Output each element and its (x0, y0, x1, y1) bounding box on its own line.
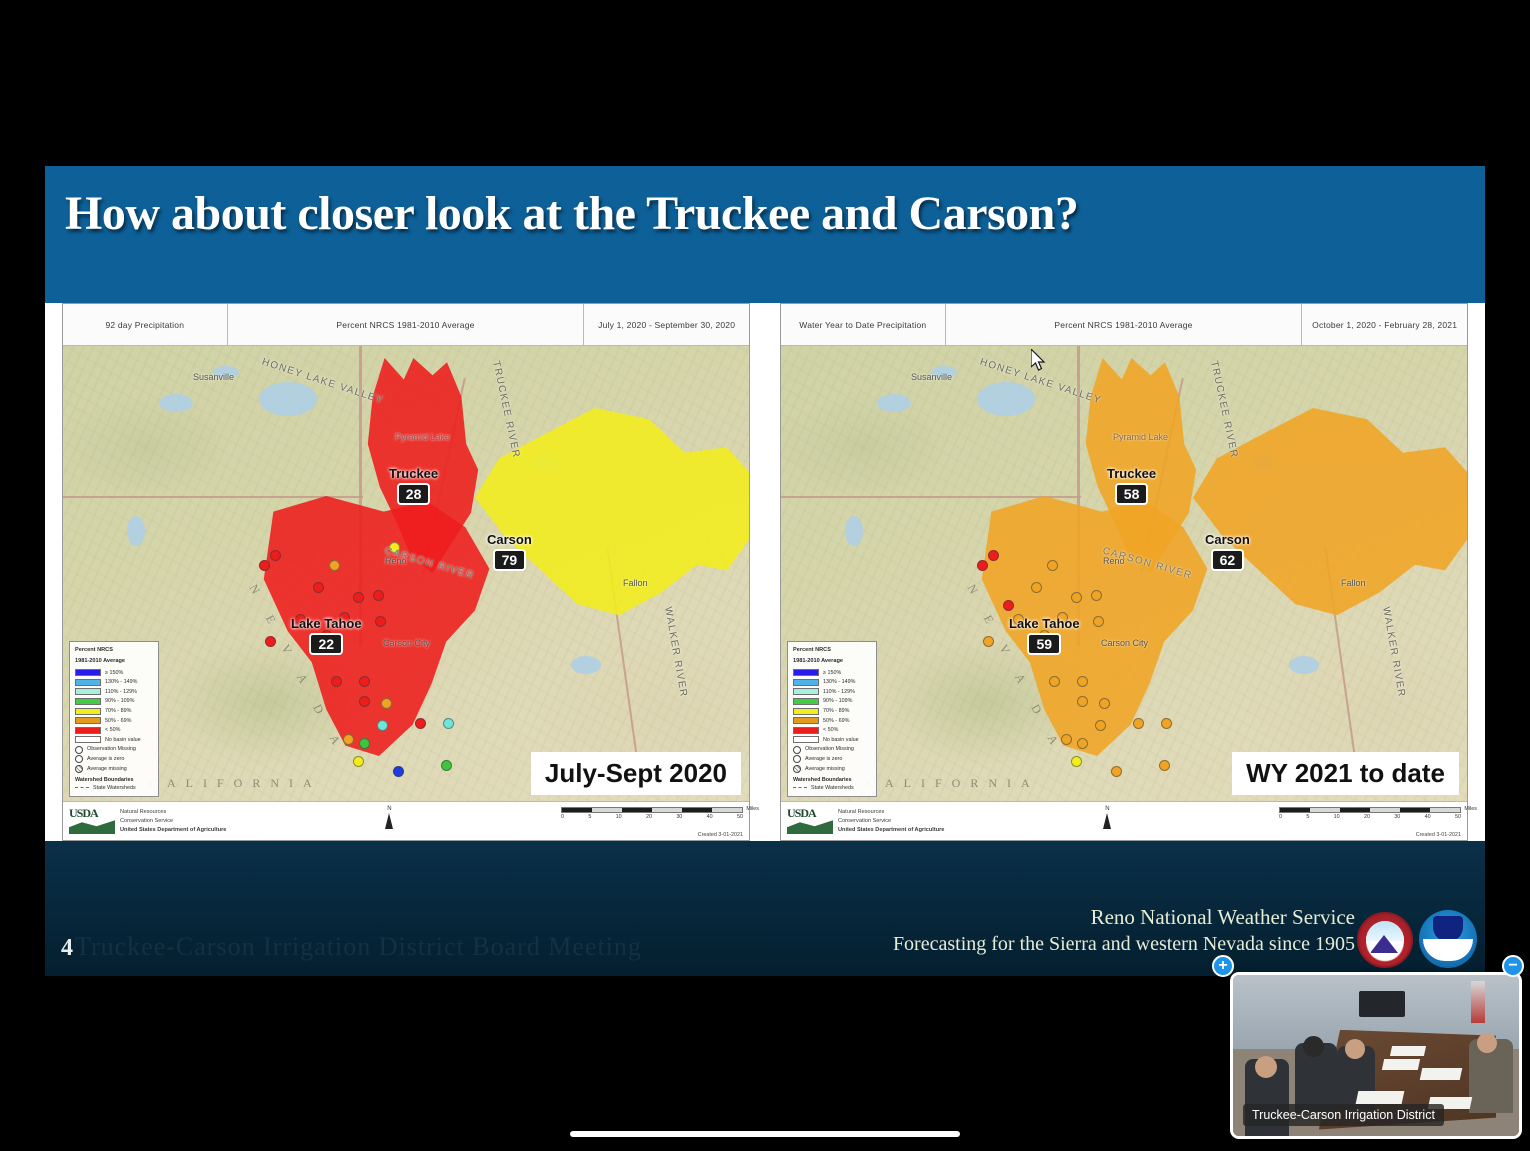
legend-class-label: ≥ 150% (823, 669, 841, 677)
scale-seg (1310, 808, 1340, 812)
basin-name: Lake Tahoe (1009, 616, 1080, 631)
observation-point (313, 582, 324, 593)
legend-color-swatch (793, 669, 819, 676)
nws-mountain-shape (1370, 935, 1398, 953)
north-arrow-glyph (1103, 813, 1111, 829)
scale-tick: 30 (1394, 814, 1400, 820)
north-label: N (385, 806, 393, 812)
scale-tick: 5 (1306, 814, 1309, 820)
north-arrow-icon: N (385, 806, 393, 829)
basin-label-carson: Carson 62 (1205, 532, 1250, 571)
footer-branding: Reno National Weather Service Forecastin… (893, 903, 1355, 958)
observation-point (1111, 766, 1122, 777)
legend-boundaries-item: State Watersheds (93, 784, 136, 792)
basin-name: Carson (1205, 532, 1250, 547)
legend-title-1: Percent NRCS (793, 646, 871, 654)
legend-color-swatch (793, 698, 819, 705)
lake-shape (259, 382, 317, 416)
video-thumbnail[interactable]: Truckee-Carson Irrigation District (1230, 972, 1522, 1139)
scene-paper (1356, 1091, 1405, 1104)
agency-line-3: United States Department of Agriculture (838, 826, 944, 835)
observation-point (1071, 592, 1082, 603)
legend-class-label: ≥ 150% (105, 669, 123, 677)
presentation-slide[interactable]: How about closer look at the Truckee and… (45, 166, 1485, 976)
legend-color-swatch (75, 727, 101, 734)
map-card-right[interactable]: Water Year to Date Precipitation Percent… (780, 303, 1468, 841)
observation-point (1003, 600, 1014, 611)
legend-class-row: No basin value (75, 736, 153, 744)
scale-seg (1430, 808, 1460, 812)
legend-class-list: ≥ 150%130% - 149%110% - 129%90% - 109%70… (75, 669, 153, 744)
legend-class-label: No basin value (105, 736, 141, 744)
legend-symbol-label: Average missing (87, 765, 127, 773)
mouse-cursor-icon (1031, 349, 1047, 373)
observation-point (1077, 696, 1088, 707)
scene-person-head (1255, 1056, 1277, 1078)
slide-body: 92 day Precipitation Percent NRCS 1981-2… (45, 303, 1485, 841)
agency-line-1: Natural Resources (838, 808, 944, 817)
legend-class-row: 130% - 149% (75, 678, 153, 686)
basin-value: 28 (397, 483, 431, 505)
map-header-period: July 1, 2020 - September 30, 2020 (584, 304, 749, 345)
zoom-out-button[interactable]: − (1502, 955, 1524, 977)
observation-point (1161, 718, 1172, 729)
scale-tick: 40 (1425, 814, 1431, 820)
observation-point (377, 720, 388, 731)
legend-color-swatch (793, 727, 819, 734)
legend-color-swatch (75, 708, 101, 715)
legend-title-1: Percent NRCS (75, 646, 153, 654)
scale-tick: 0 (1279, 814, 1282, 820)
observation-point (329, 560, 340, 571)
map-header-product: Water Year to Date Precipitation (781, 304, 946, 345)
scene-paper (1382, 1059, 1420, 1070)
map-header-measure: Percent NRCS 1981-2010 Average (946, 304, 1303, 345)
observation-point (441, 760, 452, 771)
scale-tick-labels: 051020304050 (1279, 814, 1461, 820)
map-legend-left: Percent NRCS 1981-2010 Average ≥ 150%130… (69, 641, 159, 797)
scale-seg (1370, 808, 1400, 812)
legend-class-label: No basin value (823, 736, 859, 744)
observation-point (415, 718, 426, 729)
legend-color-swatch (75, 669, 101, 676)
legend-class-label: 110% - 129% (823, 688, 855, 696)
scale-seg (712, 808, 742, 812)
basin-name: Lake Tahoe (291, 616, 362, 631)
place-label: Pyramid Lake (395, 432, 450, 442)
basin-label-truckee: Truckee 58 (1107, 466, 1156, 505)
scale-tick: 0 (561, 814, 564, 820)
agency-line-3: United States Department of Agriculture (120, 826, 226, 835)
lake-shape (1289, 656, 1319, 674)
legend-class-row: No basin value (793, 736, 871, 744)
basin-value: 58 (1115, 483, 1149, 505)
agency-line-2: Conservation Service (120, 817, 226, 826)
observation-point (1031, 582, 1042, 593)
map-canvas-right[interactable]: Susanville Reno Carson City Fallon Pyram… (781, 346, 1467, 803)
basin-value: 22 (309, 633, 343, 655)
legend-symbol-row: Average is zero (793, 755, 871, 763)
lake-shape (127, 516, 145, 546)
usda-wordmark: USDA (787, 806, 816, 821)
basin-value: 62 (1211, 549, 1245, 571)
scale-tick: 5 (588, 814, 591, 820)
legend-class-label: < 50% (823, 726, 838, 734)
legend-symbol-list: Observation MissingAverage is zeroAverag… (75, 745, 153, 772)
legend-symbol-icon (75, 765, 83, 773)
legend-class-row: ≥ 150% (75, 669, 153, 677)
observation-point (359, 696, 370, 707)
observation-point (1099, 698, 1110, 709)
scene-person-head (1477, 1033, 1497, 1053)
observation-point (443, 718, 454, 729)
page-title: How about closer look at the Truckee and… (65, 186, 1078, 241)
basin-label-lake-tahoe: Lake Tahoe 59 (1009, 616, 1080, 655)
observation-point (359, 676, 370, 687)
scale-units: Miles (1464, 806, 1477, 812)
basin-label-carson: Carson 79 (487, 532, 532, 571)
noaa-wing-shape (1423, 939, 1473, 961)
legend-class-label: 50% - 69% (105, 717, 131, 725)
lake-shape (571, 656, 601, 674)
basin-name: Truckee (389, 466, 438, 481)
highway-line (63, 496, 363, 498)
legend-color-swatch (793, 736, 819, 743)
legend-symbol-label: Observation Missing (87, 745, 136, 753)
slide-title-bar: How about closer look at the Truckee and… (45, 166, 1485, 303)
legend-color-swatch (793, 688, 819, 695)
map-footer-left: USDA Natural Resources Conservation Serv… (63, 801, 749, 840)
scale-seg (592, 808, 622, 812)
observation-point (988, 550, 999, 561)
observation-point (1093, 616, 1104, 627)
observation-point (1049, 676, 1060, 687)
legend-color-swatch (793, 679, 819, 686)
usda-agency-text: Natural Resources Conservation Service U… (120, 806, 226, 836)
lake-shape (159, 394, 193, 412)
legend-class-row: 110% - 129% (793, 688, 871, 696)
scale-seg (1340, 808, 1370, 812)
highway-line (781, 496, 1081, 498)
state-label: CALIFORNIA (149, 776, 322, 791)
observation-point (270, 550, 281, 561)
observation-point (393, 766, 404, 777)
lake-shape (977, 382, 1035, 416)
map-header-right: Water Year to Date Precipitation Percent… (781, 304, 1467, 346)
scene-paper (1420, 1068, 1463, 1080)
legend-class-label: 70% - 89% (823, 707, 849, 715)
observation-point (375, 616, 386, 627)
scene-flag (1471, 981, 1485, 1023)
map-footer-right: USDA Natural Resources Conservation Serv… (781, 801, 1467, 840)
legend-class-label: 70% - 89% (105, 707, 131, 715)
legend-title-2: 1981-2010 Average (793, 657, 871, 665)
observation-point (1159, 760, 1170, 771)
scale-seg (682, 808, 712, 812)
observation-point (977, 560, 988, 571)
legend-symbol-icon (793, 765, 801, 773)
usda-logo-icon: USDA (787, 806, 833, 836)
footer-line-1: Reno National Weather Service (893, 903, 1355, 931)
legend-class-row: 50% - 69% (75, 717, 153, 725)
map-scale-bar-right: 051020304050 Miles (1279, 807, 1461, 820)
map-legend-right: Percent NRCS 1981-2010 Average ≥ 150%130… (787, 641, 877, 797)
legend-symbol-label: Average is zero (87, 755, 124, 763)
usda-agency-text: Natural Resources Conservation Service U… (838, 806, 944, 836)
legend-class-label: 90% - 109% (823, 697, 852, 705)
legend-class-row: 90% - 109% (75, 697, 153, 705)
legend-boundaries-title: Watershed Boundaries (75, 776, 153, 784)
agency-line-1: Natural Resources (120, 808, 226, 817)
place-label: Susanville (911, 372, 952, 382)
map-scale-bar-left: 051020304050 Miles (561, 807, 743, 820)
home-indicator (570, 1131, 960, 1137)
scale-seg (562, 808, 592, 812)
scale-seg (1280, 808, 1310, 812)
footer-line-2: Forecasting for the Sierra and western N… (893, 931, 1355, 958)
scale-tick: 20 (646, 814, 652, 820)
state-label: CALIFORNIA (867, 776, 1040, 791)
legend-symbol-list: Observation MissingAverage is zeroAverag… (793, 745, 871, 772)
legend-class-row: 130% - 149% (793, 678, 871, 686)
legend-color-swatch (75, 679, 101, 686)
place-label: Pyramid Lake (1113, 432, 1168, 442)
place-label: Susanville (193, 372, 234, 382)
noaa-logo-icon (1419, 910, 1477, 968)
legend-color-swatch (75, 688, 101, 695)
legend-class-row: 70% - 89% (793, 707, 871, 715)
dashed-line-icon (793, 787, 807, 788)
legend-color-swatch (75, 698, 101, 705)
usda-swoosh-icon (69, 819, 115, 834)
legend-class-label: 130% - 149% (105, 678, 137, 686)
usda-logo-icon: USDA (69, 806, 115, 836)
north-arrow-glyph (385, 813, 393, 829)
observation-point (1047, 560, 1058, 571)
legend-symbol-label: Average is zero (805, 755, 842, 763)
legend-color-swatch (75, 736, 101, 743)
scene-paper (1390, 1046, 1426, 1056)
legend-color-swatch (793, 708, 819, 715)
lake-shape (845, 516, 863, 546)
lake-shape (877, 394, 911, 412)
scale-tick-labels: 051020304050 (561, 814, 743, 820)
scene-monitor (1359, 991, 1405, 1017)
map-header-left: 92 day Precipitation Percent NRCS 1981-2… (63, 304, 749, 346)
scale-tick: 50 (1455, 814, 1461, 820)
legend-class-label: 130% - 149% (823, 678, 855, 686)
scale-units: Miles (746, 806, 759, 812)
legend-class-row: 70% - 89% (75, 707, 153, 715)
basin-name: Truckee (1107, 466, 1156, 481)
dashed-line-icon (75, 787, 89, 788)
map-caption-left: July-Sept 2020 (531, 752, 741, 795)
scale-bar-graphic (561, 807, 743, 813)
observation-point (1077, 738, 1088, 749)
map-card-left[interactable]: 92 day Precipitation Percent NRCS 1981-2… (62, 303, 750, 841)
observation-point (331, 676, 342, 687)
scale-bar-graphic (1279, 807, 1461, 813)
legend-symbol-row: Average missing (793, 765, 871, 773)
place-label: Fallon (623, 578, 648, 588)
map-created-date: Created 3-01-2021 (1416, 832, 1461, 838)
map-header-product: 92 day Precipitation (63, 304, 228, 345)
legend-color-swatch (793, 717, 819, 724)
video-participant-label: Truckee-Carson Irrigation District (1243, 1104, 1444, 1126)
legend-symbol-row: Average missing (75, 765, 153, 773)
nws-logo-inner (1366, 921, 1404, 959)
legend-color-swatch (75, 717, 101, 724)
map-canvas-left[interactable]: Susanville Reno Carson City Fallon Pyram… (63, 346, 749, 803)
usda-wordmark: USDA (69, 806, 98, 821)
north-label: N (1103, 806, 1111, 812)
basin-label-lake-tahoe: Lake Tahoe 22 (291, 616, 362, 655)
legend-symbol-icon (793, 746, 801, 754)
observation-point (359, 738, 370, 749)
map-created-date: Created 3-01-2021 (698, 832, 743, 838)
scale-tick: 20 (1364, 814, 1370, 820)
footer-ghost-text: Truckee-Carson Irrigation District Board… (75, 932, 642, 962)
slide-footer: Truckee-Carson Irrigation District Board… (45, 841, 1485, 976)
scale-tick: 10 (616, 814, 622, 820)
place-label: Carson City (383, 638, 430, 648)
basin-value: 59 (1027, 633, 1061, 655)
agency-line-2: Conservation Service (838, 817, 944, 826)
usda-branding: USDA Natural Resources Conservation Serv… (787, 806, 944, 836)
legend-symbol-row: Observation Missing (75, 745, 153, 753)
legend-class-row: 90% - 109% (793, 697, 871, 705)
legend-class-row: 50% - 69% (793, 717, 871, 725)
page-number: 4 (61, 935, 73, 962)
legend-class-label: < 50% (105, 726, 120, 734)
observation-point (381, 698, 392, 709)
scale-tick: 10 (1334, 814, 1340, 820)
observation-point (259, 560, 270, 571)
observation-point (1077, 676, 1088, 687)
usda-branding: USDA Natural Resources Conservation Serv… (69, 806, 226, 836)
legend-class-label: 50% - 69% (823, 717, 849, 725)
legend-symbol-icon (793, 755, 801, 763)
scale-seg (652, 808, 682, 812)
legend-boundaries-row: State Watersheds (793, 784, 871, 792)
observation-point (1133, 718, 1144, 729)
map-header-period: October 1, 2020 - February 28, 2021 (1302, 304, 1467, 345)
legend-boundaries-item: State Watersheds (811, 784, 854, 792)
scale-tick: 40 (707, 814, 713, 820)
observation-point (1095, 720, 1106, 731)
legend-title-2: 1981-2010 Average (75, 657, 153, 665)
scale-tick: 30 (676, 814, 682, 820)
legend-class-row: < 50% (75, 726, 153, 734)
legend-class-row: ≥ 150% (793, 669, 871, 677)
scale-tick: 50 (737, 814, 743, 820)
scale-seg (1400, 808, 1430, 812)
legend-symbol-row: Observation Missing (793, 745, 871, 753)
place-label: Carson City (1101, 638, 1148, 648)
observation-point (1091, 590, 1102, 601)
basin-value: 79 (493, 549, 527, 571)
observation-point (373, 590, 384, 601)
observation-point (353, 592, 364, 603)
legend-symbol-icon (75, 746, 83, 754)
legend-symbol-label: Observation Missing (805, 745, 854, 753)
nws-logo-icon (1357, 912, 1413, 968)
legend-class-list: ≥ 150%130% - 149%110% - 129%90% - 109%70… (793, 669, 871, 744)
legend-symbol-icon (75, 755, 83, 763)
legend-boundaries-title: Watershed Boundaries (793, 776, 871, 784)
basin-label-truckee: Truckee 28 (389, 466, 438, 505)
north-arrow-icon: N (1103, 806, 1111, 829)
legend-class-row: 110% - 129% (75, 688, 153, 696)
legend-symbol-label: Average missing (805, 765, 845, 773)
place-label: Fallon (1341, 578, 1366, 588)
usda-swoosh-icon (787, 819, 833, 834)
legend-symbol-row: Average is zero (75, 755, 153, 763)
zoom-in-button[interactable]: + (1212, 955, 1234, 977)
legend-class-label: 90% - 109% (105, 697, 134, 705)
map-caption-right: WY 2021 to date (1232, 752, 1459, 795)
basin-name: Carson (487, 532, 532, 547)
legend-class-row: < 50% (793, 726, 871, 734)
scale-seg (622, 808, 652, 812)
map-header-measure: Percent NRCS 1981-2010 Average (228, 304, 585, 345)
legend-class-label: 110% - 129% (105, 688, 137, 696)
screen: How about closer look at the Truckee and… (0, 0, 1530, 1151)
legend-boundaries-row: State Watersheds (75, 784, 153, 792)
